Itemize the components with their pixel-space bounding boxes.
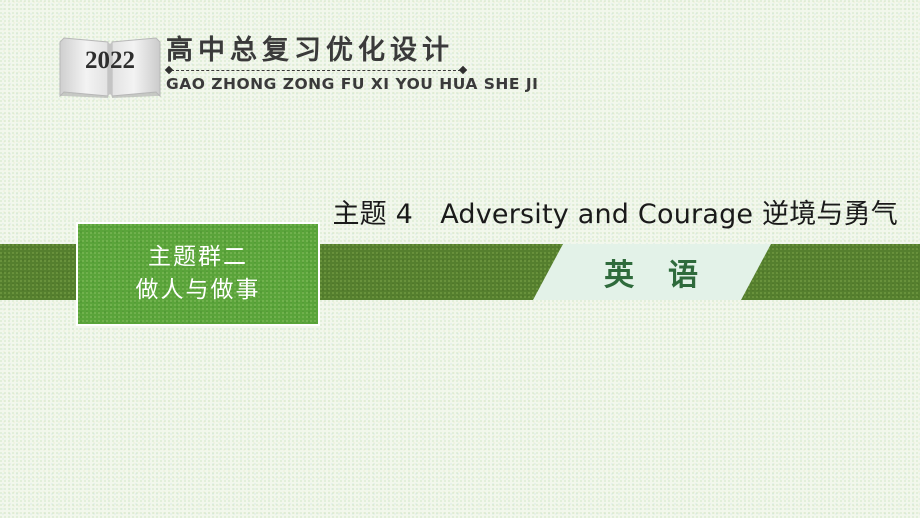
dashed-rule xyxy=(171,70,461,71)
theme-group-line1: 主题群二 xyxy=(148,243,248,272)
diamond-right-icon xyxy=(459,66,467,74)
logo-year: 2022 xyxy=(56,28,164,96)
series-title-cn: 高中总复习优化设计 xyxy=(166,28,454,67)
theme-group-line2: 做人与做事 xyxy=(136,276,261,305)
title-divider xyxy=(166,67,466,75)
theme-group-box: 主题群二 做人与做事 xyxy=(76,222,320,326)
subject-label: 英 语 xyxy=(533,244,771,300)
series-title-pinyin: GAO ZHONG ZONG FU XI YOU HUA SHE JI xyxy=(166,75,538,93)
series-header: 2022 高中总复习优化设计 GAO ZHONG ZONG FU XI YOU … xyxy=(56,28,476,108)
theme-group-text: 主题群二 做人与做事 xyxy=(78,224,318,324)
slide-canvas: 2022 高中总复习优化设计 GAO ZHONG ZONG FU XI YOU … xyxy=(0,0,920,518)
page-title: 主题 4 Adversity and Courage 逆境与勇气 xyxy=(332,192,898,231)
